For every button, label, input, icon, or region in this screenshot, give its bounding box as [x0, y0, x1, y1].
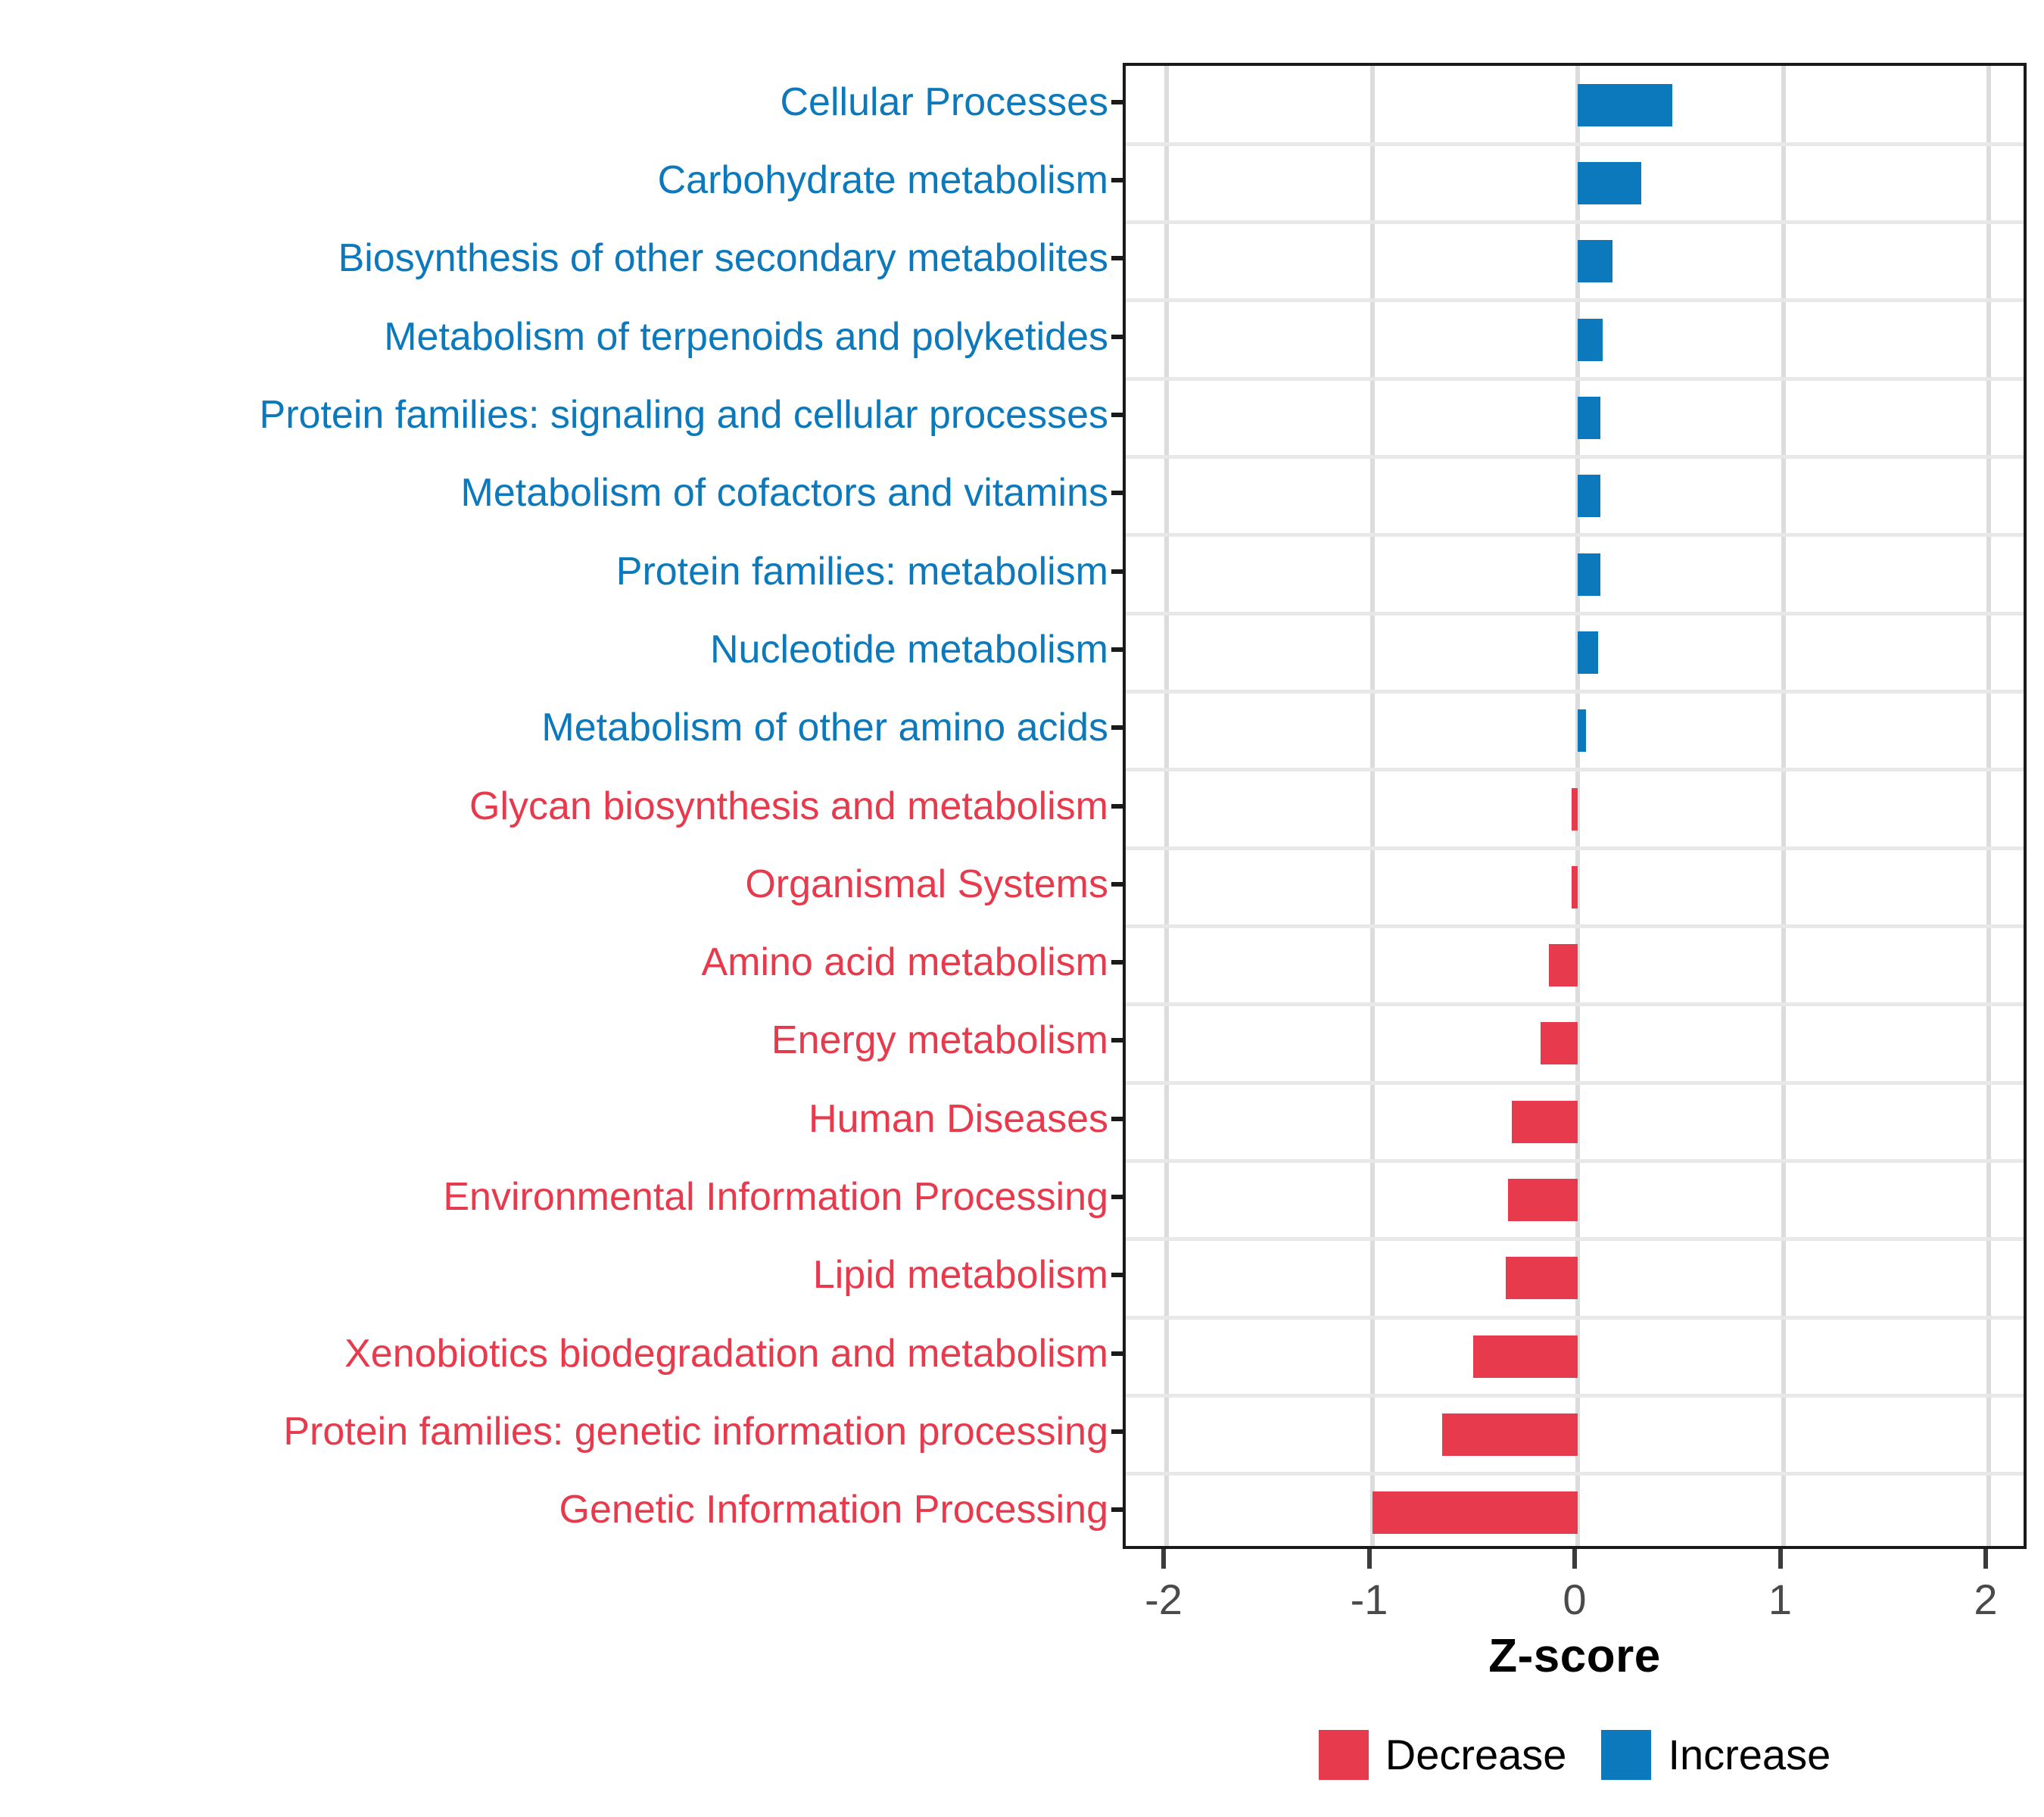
- y-axis-tick: [1111, 413, 1123, 417]
- bar: [1506, 1257, 1578, 1299]
- bar: [1572, 788, 1578, 831]
- y-gridline: [1126, 1081, 2024, 1085]
- bar: [1508, 1179, 1578, 1221]
- y-axis-tick: [1111, 1273, 1123, 1277]
- y-axis-tick: [1111, 1429, 1123, 1434]
- bar: [1578, 162, 1641, 204]
- bar: [1578, 240, 1612, 282]
- y-gridline: [1126, 924, 2024, 928]
- bar: [1442, 1413, 1578, 1456]
- legend-swatch-icon: [1601, 1730, 1651, 1780]
- bar: [1572, 866, 1578, 908]
- y-axis-tick: [1111, 804, 1123, 809]
- y-axis-label: Xenobiotics biodegradation and metabolis…: [344, 1334, 1111, 1373]
- bar: [1578, 709, 1586, 752]
- y-axis-tick: [1111, 178, 1123, 182]
- y-axis-tick: [1111, 647, 1123, 652]
- y-axis-tick: [1111, 256, 1123, 260]
- y-axis-tick: [1111, 335, 1123, 339]
- x-axis-tick: [1983, 1549, 1988, 1569]
- bar: [1578, 397, 1600, 439]
- x-gridline: [1986, 66, 1991, 1546]
- x-gridline: [1370, 66, 1375, 1546]
- y-axis-label: Metabolism of cofactors and vitamins: [461, 473, 1111, 513]
- y-axis-tick: [1111, 100, 1123, 104]
- y-axis-tick: [1111, 569, 1123, 574]
- x-axis-tick: [1367, 1549, 1372, 1569]
- bar: [1578, 84, 1672, 126]
- y-axis-label: Organismal Systems: [745, 865, 1111, 904]
- y-axis-label: Energy metabolism: [771, 1021, 1111, 1060]
- y-gridline: [1126, 1472, 2024, 1476]
- legend-label: Increase: [1668, 1732, 1831, 1778]
- bar: [1578, 475, 1600, 517]
- legend-label: Decrease: [1385, 1732, 1567, 1778]
- y-axis-label: Metabolism of other amino acids: [541, 708, 1111, 747]
- y-axis-category-labels: Cellular ProcessesCarbohydrate metabolis…: [0, 63, 1111, 1549]
- y-axis-label: Cellular Processes: [781, 83, 1112, 122]
- y-gridline: [1126, 1002, 2024, 1006]
- y-gridline: [1126, 690, 2024, 693]
- y-axis-label: Amino acid metabolism: [701, 943, 1111, 982]
- x-axis-tick-label: -2: [1145, 1576, 1182, 1623]
- x-axis-tick: [1161, 1549, 1166, 1569]
- y-axis-label: Metabolism of terpenoids and polyketides: [384, 317, 1111, 357]
- bar: [1549, 944, 1578, 986]
- y-gridline: [1126, 1316, 2024, 1320]
- y-gridline: [1126, 377, 2024, 381]
- legend-item[interactable]: Decrease: [1319, 1730, 1567, 1780]
- y-gridline: [1126, 298, 2024, 302]
- legend-item[interactable]: Increase: [1601, 1730, 1831, 1780]
- plot-inner: [1126, 66, 2024, 1546]
- y-axis-tick: [1111, 1117, 1123, 1121]
- y-axis-label: Biosynthesis of other secondary metaboli…: [338, 238, 1111, 278]
- bar: [1541, 1022, 1578, 1064]
- chart-root: Cellular ProcessesCarbohydrate metabolis…: [0, 0, 2044, 1817]
- chart-legend: DecreaseIncrease: [1123, 1730, 2027, 1780]
- x-gridline: [1164, 66, 1169, 1546]
- bar: [1578, 319, 1603, 361]
- legend-swatch-icon: [1319, 1730, 1369, 1780]
- y-axis-label: Environmental Information Processing: [443, 1177, 1111, 1217]
- plot-panel: [1123, 63, 2027, 1549]
- x-axis-tick: [1572, 1549, 1577, 1569]
- y-axis-tick: [1111, 882, 1123, 887]
- y-gridline: [1126, 1237, 2024, 1241]
- x-axis-tick-label: 2: [1974, 1576, 1997, 1623]
- y-axis-tick: [1111, 1351, 1123, 1356]
- y-axis-tick: [1111, 1507, 1123, 1512]
- y-axis-tick: [1111, 1195, 1123, 1199]
- bar: [1578, 553, 1600, 596]
- bar: [1373, 1491, 1578, 1534]
- y-axis-label: Carbohydrate metabolism: [658, 161, 1111, 200]
- y-gridline: [1126, 220, 2024, 224]
- x-gridline: [1781, 66, 1786, 1546]
- x-axis-title: Z-score: [1123, 1629, 2027, 1683]
- bar: [1512, 1101, 1578, 1143]
- y-axis-label: Lipid metabolism: [813, 1255, 1111, 1295]
- y-gridline: [1126, 768, 2024, 771]
- y-axis-label: Nucleotide metabolism: [710, 630, 1111, 669]
- y-gridline: [1126, 455, 2024, 459]
- x-axis-tick-label: 0: [1563, 1576, 1586, 1623]
- y-axis-label: Protein families: signaling and cellular…: [260, 395, 1111, 435]
- x-axis-tick-label: 1: [1768, 1576, 1792, 1623]
- y-axis-label: Genetic Information Processing: [559, 1490, 1111, 1529]
- y-gridline: [1126, 1394, 2024, 1398]
- y-gridline: [1126, 1159, 2024, 1163]
- y-axis-tick: [1111, 725, 1123, 730]
- y-gridline: [1126, 142, 2024, 146]
- x-axis-tick-label: -1: [1351, 1576, 1388, 1623]
- bar: [1578, 631, 1598, 674]
- y-gridline: [1126, 846, 2024, 850]
- y-axis-label: Protein families: genetic information pr…: [283, 1412, 1111, 1451]
- y-axis-label: Human Diseases: [809, 1099, 1111, 1139]
- y-axis-tick: [1111, 1038, 1123, 1043]
- y-gridline: [1126, 533, 2024, 537]
- bar: [1473, 1335, 1578, 1378]
- y-axis-tick: [1111, 960, 1123, 965]
- y-axis-tick: [1111, 491, 1123, 495]
- x-axis-tick: [1778, 1549, 1783, 1569]
- y-gridline: [1126, 612, 2024, 616]
- y-axis-label: Protein families: metabolism: [616, 552, 1111, 591]
- y-axis-label: Glycan biosynthesis and metabolism: [469, 787, 1111, 826]
